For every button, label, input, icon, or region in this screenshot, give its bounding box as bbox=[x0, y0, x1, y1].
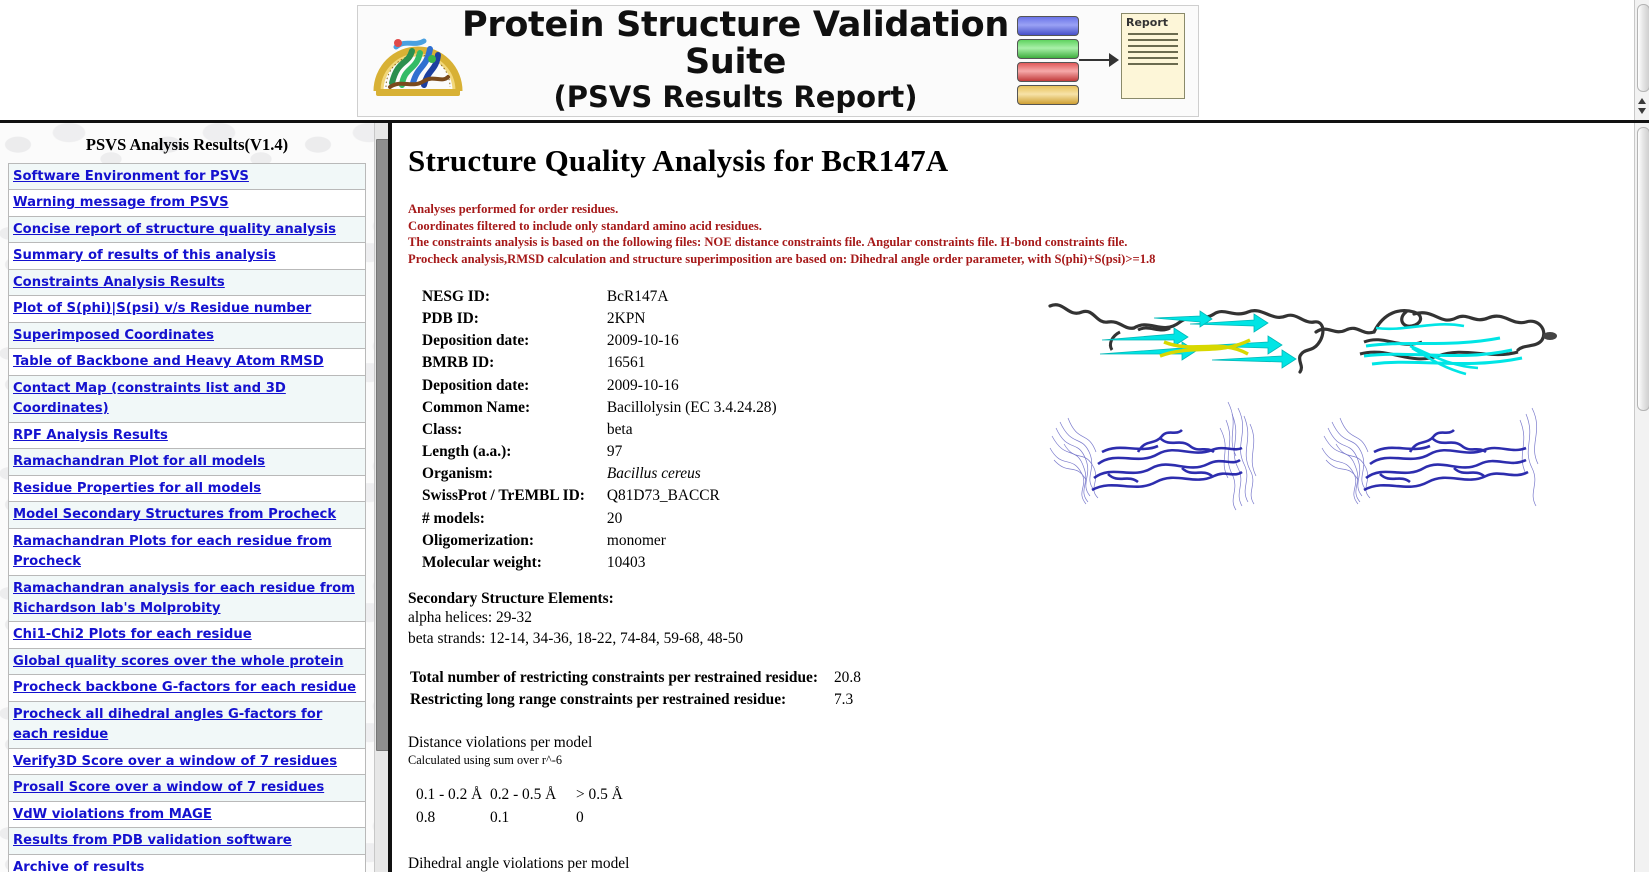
stack-chip-yellow bbox=[1017, 85, 1079, 105]
restraint-label: Total number of restricting constraints … bbox=[410, 667, 828, 689]
navigation-scrollbar-thumb[interactable] bbox=[376, 139, 388, 751]
document-body: Structure Quality Analysis for BcR147A A… bbox=[392, 123, 1634, 872]
sidebar-item-archive-of-results[interactable]: Archive of results bbox=[9, 855, 365, 872]
analysis-note-2: Coordinates filtered to include only sta… bbox=[408, 218, 1634, 235]
sidebar-link-label[interactable]: Residue Properties for all models bbox=[13, 481, 261, 496]
scroll-up-arrow-icon[interactable] bbox=[1638, 98, 1646, 104]
report-doc-label: Report bbox=[1122, 14, 1184, 29]
sidebar-link-label[interactable]: Model Secondary Structures from Procheck bbox=[13, 507, 336, 522]
sidebar-link-label[interactable]: Summary of results of this analysis bbox=[13, 248, 276, 263]
info-key: PDB ID: bbox=[422, 308, 607, 330]
report-document-icon: Report bbox=[1121, 13, 1185, 99]
info-key: Molecular weight: bbox=[422, 552, 607, 574]
column-header: > 0.5 Å bbox=[576, 784, 650, 807]
sidebar-link-label[interactable]: Procheck backbone G-factors for each res… bbox=[13, 680, 356, 695]
sidebar-item-sphi-spsi-plot[interactable]: Plot of S(phi)|S(psi) v/s Residue number bbox=[9, 296, 365, 322]
sidebar-item-summary-results[interactable]: Summary of results of this analysis bbox=[9, 243, 365, 269]
restraints-table: Total number of restricting constraints … bbox=[410, 667, 861, 712]
banner-title: Protein Structure Validation Suite bbox=[462, 7, 1009, 80]
table-row: 0.8 0.1 0 bbox=[416, 807, 650, 830]
restraint-value: 7.3 bbox=[828, 689, 861, 711]
info-value: beta bbox=[607, 419, 777, 441]
info-value: 16561 bbox=[607, 352, 777, 374]
protein-cartoon-ribbon-image bbox=[1050, 305, 1323, 372]
sidebar-link-label[interactable]: Chi1-Chi2 Plots for each residue bbox=[13, 627, 252, 642]
table-row: Deposition date:2009-10-16 bbox=[422, 375, 777, 397]
sidebar-link-label[interactable]: Procheck all dihedral angles G-factors f… bbox=[13, 707, 322, 742]
info-key: Oligomerization: bbox=[422, 530, 607, 552]
sidebar-link-label[interactable]: Ramachandran analysis for each residue f… bbox=[13, 581, 355, 616]
sidebar-link-label[interactable]: Warning message from PSVS bbox=[13, 195, 229, 210]
stack-chip-green bbox=[1017, 39, 1079, 59]
restraint-label: Restricting long range constraints per r… bbox=[410, 689, 828, 711]
sidebar-link-label[interactable]: Plot of S(phi)|S(psi) v/s Residue number bbox=[13, 301, 311, 316]
info-key: Class: bbox=[422, 419, 607, 441]
analysis-note-4: Procheck analysis,RMSD calculation and s… bbox=[408, 251, 1634, 268]
sidebar-link-label[interactable]: Global quality scores over the whole pro… bbox=[13, 654, 344, 669]
table-row: Total number of restricting constraints … bbox=[410, 667, 861, 689]
table-row: Molecular weight:10403 bbox=[422, 552, 777, 574]
banner-diagram: Report bbox=[1009, 11, 1194, 111]
info-value: Bacillolysin (EC 3.4.24.28) bbox=[607, 397, 777, 419]
sidebar-item-global-quality-scores[interactable]: Global quality scores over the whole pro… bbox=[9, 649, 365, 675]
sidebar-item-ramachandran-plot[interactable]: Ramachandran Plot for all models bbox=[9, 449, 365, 475]
header-scrollbar-thumb[interactable] bbox=[1637, 4, 1649, 92]
cell-value: 0.1 bbox=[490, 807, 576, 830]
info-value: 2009-10-16 bbox=[607, 375, 777, 397]
distance-violations-subheading: Calculated using sum over r^-6 bbox=[408, 753, 1634, 768]
sse-heading: Secondary Structure Elements: bbox=[408, 590, 1634, 608]
restraints-section: Total number of restricting constraints … bbox=[410, 667, 1634, 712]
info-value: 20 bbox=[607, 508, 777, 530]
sidebar-link-label[interactable]: Constraints Analysis Results bbox=[13, 275, 225, 290]
sidebar-link-label[interactable]: VdW violations from MAGE bbox=[13, 807, 212, 822]
content-area: PSVS Analysis Results(V1.4) Software Env… bbox=[0, 123, 1634, 872]
sidebar-link-label[interactable]: Verify3D Score over a window of 7 residu… bbox=[13, 754, 337, 769]
sidebar-item-warning-message[interactable]: Warning message from PSVS bbox=[9, 190, 365, 216]
distance-violations-section: Distance violations per model Calculated… bbox=[408, 734, 1634, 830]
stack-chip-red bbox=[1017, 62, 1079, 82]
table-header-row: 0.1 - 0.2 Å 0.2 - 0.5 Å > 0.5 Å bbox=[416, 784, 650, 807]
arrow-right-icon bbox=[1079, 59, 1113, 61]
table-row: PDB ID:2KPN bbox=[422, 308, 777, 330]
column-header: 0.1 - 0.2 Å bbox=[416, 784, 490, 807]
sidebar-link-label[interactable]: Superimposed Coordinates bbox=[13, 328, 214, 343]
sidebar-link-label[interactable]: Prosall Score over a window of 7 residue… bbox=[13, 780, 324, 795]
dihedral-violations-section: Dihedral angle violations per model 1 - … bbox=[408, 855, 1634, 872]
sidebar-item-molprobity-analysis[interactable]: Ramachandran analysis for each residue f… bbox=[9, 576, 365, 623]
dihedral-violations-heading: Dihedral angle violations per model bbox=[408, 855, 1634, 872]
sidebar-link-label[interactable]: Contact Map (constraints list and 3D Coo… bbox=[13, 381, 286, 416]
protein-model-bundle-image-2 bbox=[1322, 408, 1538, 506]
sidebar-item-chi1-chi2-plots[interactable]: Chi1-Chi2 Plots for each residue bbox=[9, 622, 365, 648]
page-title: Structure Quality Analysis for BcR147A bbox=[408, 143, 1634, 179]
sidebar-item-model-secondary-structures[interactable]: Model Secondary Structures from Procheck bbox=[9, 502, 365, 528]
sidebar-link-label[interactable]: Ramachandran Plots for each residue from… bbox=[13, 534, 332, 569]
main-frame-scrollbar[interactable] bbox=[1634, 123, 1649, 872]
banner-subtitle: (PSVS Results Report) bbox=[462, 80, 1009, 115]
info-value: 2009-10-16 bbox=[607, 330, 777, 352]
info-value: monomer bbox=[607, 530, 777, 552]
protein-info-table: NESG ID:BcR147A PDB ID:2KPN Deposition d… bbox=[422, 286, 777, 574]
header-frame: Protein Structure Validation Suite (PSVS… bbox=[0, 0, 1634, 120]
stack-chip-blue bbox=[1017, 16, 1079, 36]
info-value: 10403 bbox=[607, 552, 777, 574]
arrow-head-icon bbox=[1109, 53, 1119, 67]
sidebar-item-rmsd-table[interactable]: Table of Backbone and Heavy Atom RMSD bbox=[9, 349, 365, 375]
sidebar-item-superimposed-coordinates[interactable]: Superimposed Coordinates bbox=[9, 323, 365, 349]
sse-alpha-helices: alpha helices: 29-32 bbox=[408, 608, 1634, 628]
sidebar-item-rpf-analysis[interactable]: RPF Analysis Results bbox=[9, 423, 365, 449]
sidebar-link-label[interactable]: Results from PDB validation software bbox=[13, 833, 292, 848]
sidebar-link-label[interactable]: Software Environment for PSVS bbox=[13, 169, 249, 184]
cell-value: 0.8 bbox=[416, 807, 490, 830]
info-value: BcR147A bbox=[607, 286, 777, 308]
table-row: Class:beta bbox=[422, 419, 777, 441]
protein-ribbon-seal-logo bbox=[368, 13, 468, 109]
table-row: # models:20 bbox=[422, 508, 777, 530]
analysis-notes: Analyses performed for order residues. C… bbox=[408, 201, 1634, 268]
protein-cartoon-ribbon-image-2 bbox=[1316, 311, 1557, 374]
info-key: Common Name: bbox=[422, 397, 607, 419]
info-value: 2KPN bbox=[607, 308, 777, 330]
table-row: NESG ID:BcR147A bbox=[422, 286, 777, 308]
table-row: Organism:Bacillus cereus bbox=[422, 463, 777, 485]
sidebar-item-procheck-backbone-gfactors[interactable]: Procheck backbone G-factors for each res… bbox=[9, 675, 365, 701]
info-value: Q81D73_BACCR bbox=[607, 485, 777, 507]
info-key: Organism: bbox=[422, 463, 607, 485]
sidebar-item-software-environment[interactable]: Software Environment for PSVS bbox=[9, 164, 365, 190]
table-row: BMRB ID:16561 bbox=[422, 352, 777, 374]
sse-beta-strands: beta strands: 12-14, 34-36, 18-22, 74-84… bbox=[408, 629, 1634, 649]
info-value: Bacillus cereus bbox=[607, 463, 777, 485]
analysis-note-1: Analyses performed for order residues. bbox=[408, 201, 1634, 218]
sidebar-title: PSVS Analysis Results(V1.4) bbox=[0, 123, 374, 163]
table-row: Oligomerization:monomer bbox=[422, 530, 777, 552]
document-frame: Structure Quality Analysis for BcR147A A… bbox=[392, 123, 1634, 872]
info-key: NESG ID: bbox=[422, 286, 607, 308]
table-row: Restricting long range constraints per r… bbox=[410, 689, 861, 711]
scroll-down-arrow-icon[interactable] bbox=[1638, 108, 1646, 114]
info-key: BMRB ID: bbox=[422, 352, 607, 374]
restraint-value: 20.8 bbox=[828, 667, 861, 689]
info-key: # models: bbox=[422, 508, 607, 530]
sidebar-link-label[interactable]: Archive of results bbox=[13, 860, 144, 872]
table-row: Common Name:Bacillolysin (EC 3.4.24.28) bbox=[422, 397, 777, 419]
analysis-note-3: The constraints analysis is based on the… bbox=[408, 234, 1634, 251]
sidebar-link-list: Software Environment for PSVS Warning me… bbox=[8, 163, 366, 872]
info-key: Length (a.a.): bbox=[422, 441, 607, 463]
cell-value: 0 bbox=[576, 807, 650, 830]
sidebar-link-label[interactable]: Concise report of structure quality anal… bbox=[13, 222, 336, 237]
header-frame-scrollbar[interactable] bbox=[1634, 0, 1649, 120]
sidebar-link-label[interactable]: Table of Backbone and Heavy Atom RMSD bbox=[13, 354, 324, 369]
sidebar-link-label[interactable]: Ramachandran Plot for all models bbox=[13, 454, 265, 469]
page-root: Protein Structure Validation Suite (PSVS… bbox=[0, 0, 1649, 872]
sidebar-link-label[interactable]: RPF Analysis Results bbox=[13, 428, 168, 443]
navigation-frame-scrollbar[interactable] bbox=[374, 123, 388, 872]
distance-violations-heading: Distance violations per model bbox=[408, 734, 1634, 752]
protein-model-bundle-image bbox=[1050, 402, 1256, 510]
main-scrollbar-thumb[interactable] bbox=[1637, 127, 1649, 411]
info-value: 97 bbox=[607, 441, 777, 463]
sidebar-item-contact-map[interactable]: Contact Map (constraints list and 3D Coo… bbox=[9, 376, 365, 423]
distance-violations-table: 0.1 - 0.2 Å 0.2 - 0.5 Å > 0.5 Å 0.8 0.1 … bbox=[416, 784, 650, 830]
sidebar-item-pdb-validation-results[interactable]: Results from PDB validation software bbox=[9, 828, 365, 854]
banner-text: Protein Structure Validation Suite (PSVS… bbox=[462, 7, 1009, 115]
sidebar-item-concise-report[interactable]: Concise report of structure quality anal… bbox=[9, 217, 365, 243]
column-header: 0.2 - 0.5 Å bbox=[490, 784, 576, 807]
navigation-inner: PSVS Analysis Results(V1.4) Software Env… bbox=[0, 123, 374, 872]
sidebar-item-ramachandran-plots-procheck[interactable]: Ramachandran Plots for each residue from… bbox=[9, 529, 365, 576]
info-key: Deposition date: bbox=[422, 330, 607, 352]
sidebar-item-procheck-dihedral-gfactors[interactable]: Procheck all dihedral angles G-factors f… bbox=[9, 702, 365, 749]
table-row: Length (a.a.):97 bbox=[422, 441, 777, 463]
sidebar-item-constraints-analysis[interactable]: Constraints Analysis Results bbox=[9, 270, 365, 296]
structure-images bbox=[1042, 278, 1562, 528]
sidebar-item-prosall-score[interactable]: Prosall Score over a window of 7 residue… bbox=[9, 775, 365, 801]
info-key: Deposition date: bbox=[422, 375, 607, 397]
sidebar-item-residue-properties[interactable]: Residue Properties for all models bbox=[9, 476, 365, 502]
table-row: Deposition date:2009-10-16 bbox=[422, 330, 777, 352]
app-banner: Protein Structure Validation Suite (PSVS… bbox=[357, 5, 1199, 117]
info-key: SwissProt / TrEMBL ID: bbox=[422, 485, 607, 507]
navigation-frame: PSVS Analysis Results(V1.4) Software Env… bbox=[0, 123, 388, 872]
table-row: SwissProt / TrEMBL ID:Q81D73_BACCR bbox=[422, 485, 777, 507]
sidebar-item-verify3d-score[interactable]: Verify3D Score over a window of 7 residu… bbox=[9, 749, 365, 775]
sidebar-item-vdw-violations[interactable]: VdW violations from MAGE bbox=[9, 802, 365, 828]
secondary-structure-section: Secondary Structure Elements: alpha heli… bbox=[408, 590, 1634, 649]
